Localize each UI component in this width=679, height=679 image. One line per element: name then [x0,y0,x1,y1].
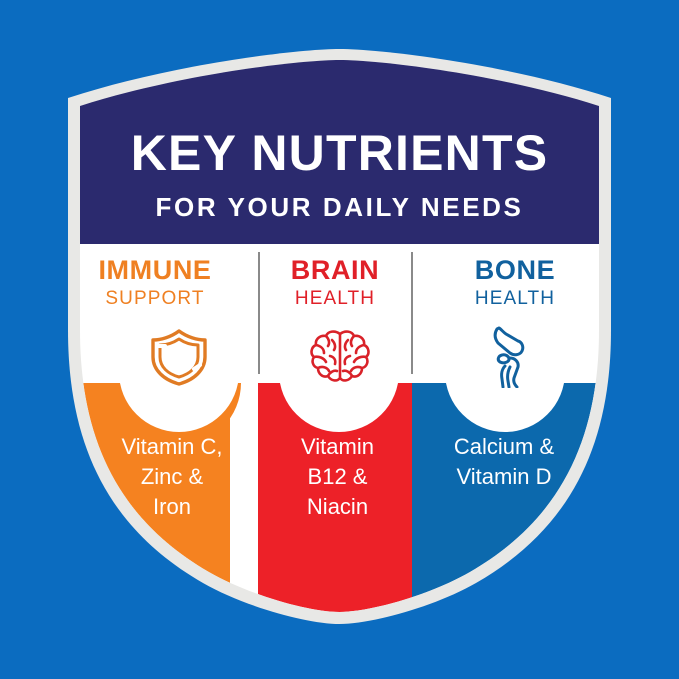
shield-graphic [0,0,679,679]
header-band [60,40,619,244]
shield-infographic: KEY NUTRIENTS FOR YOUR DAILY NEEDS IMMUN… [0,0,679,679]
